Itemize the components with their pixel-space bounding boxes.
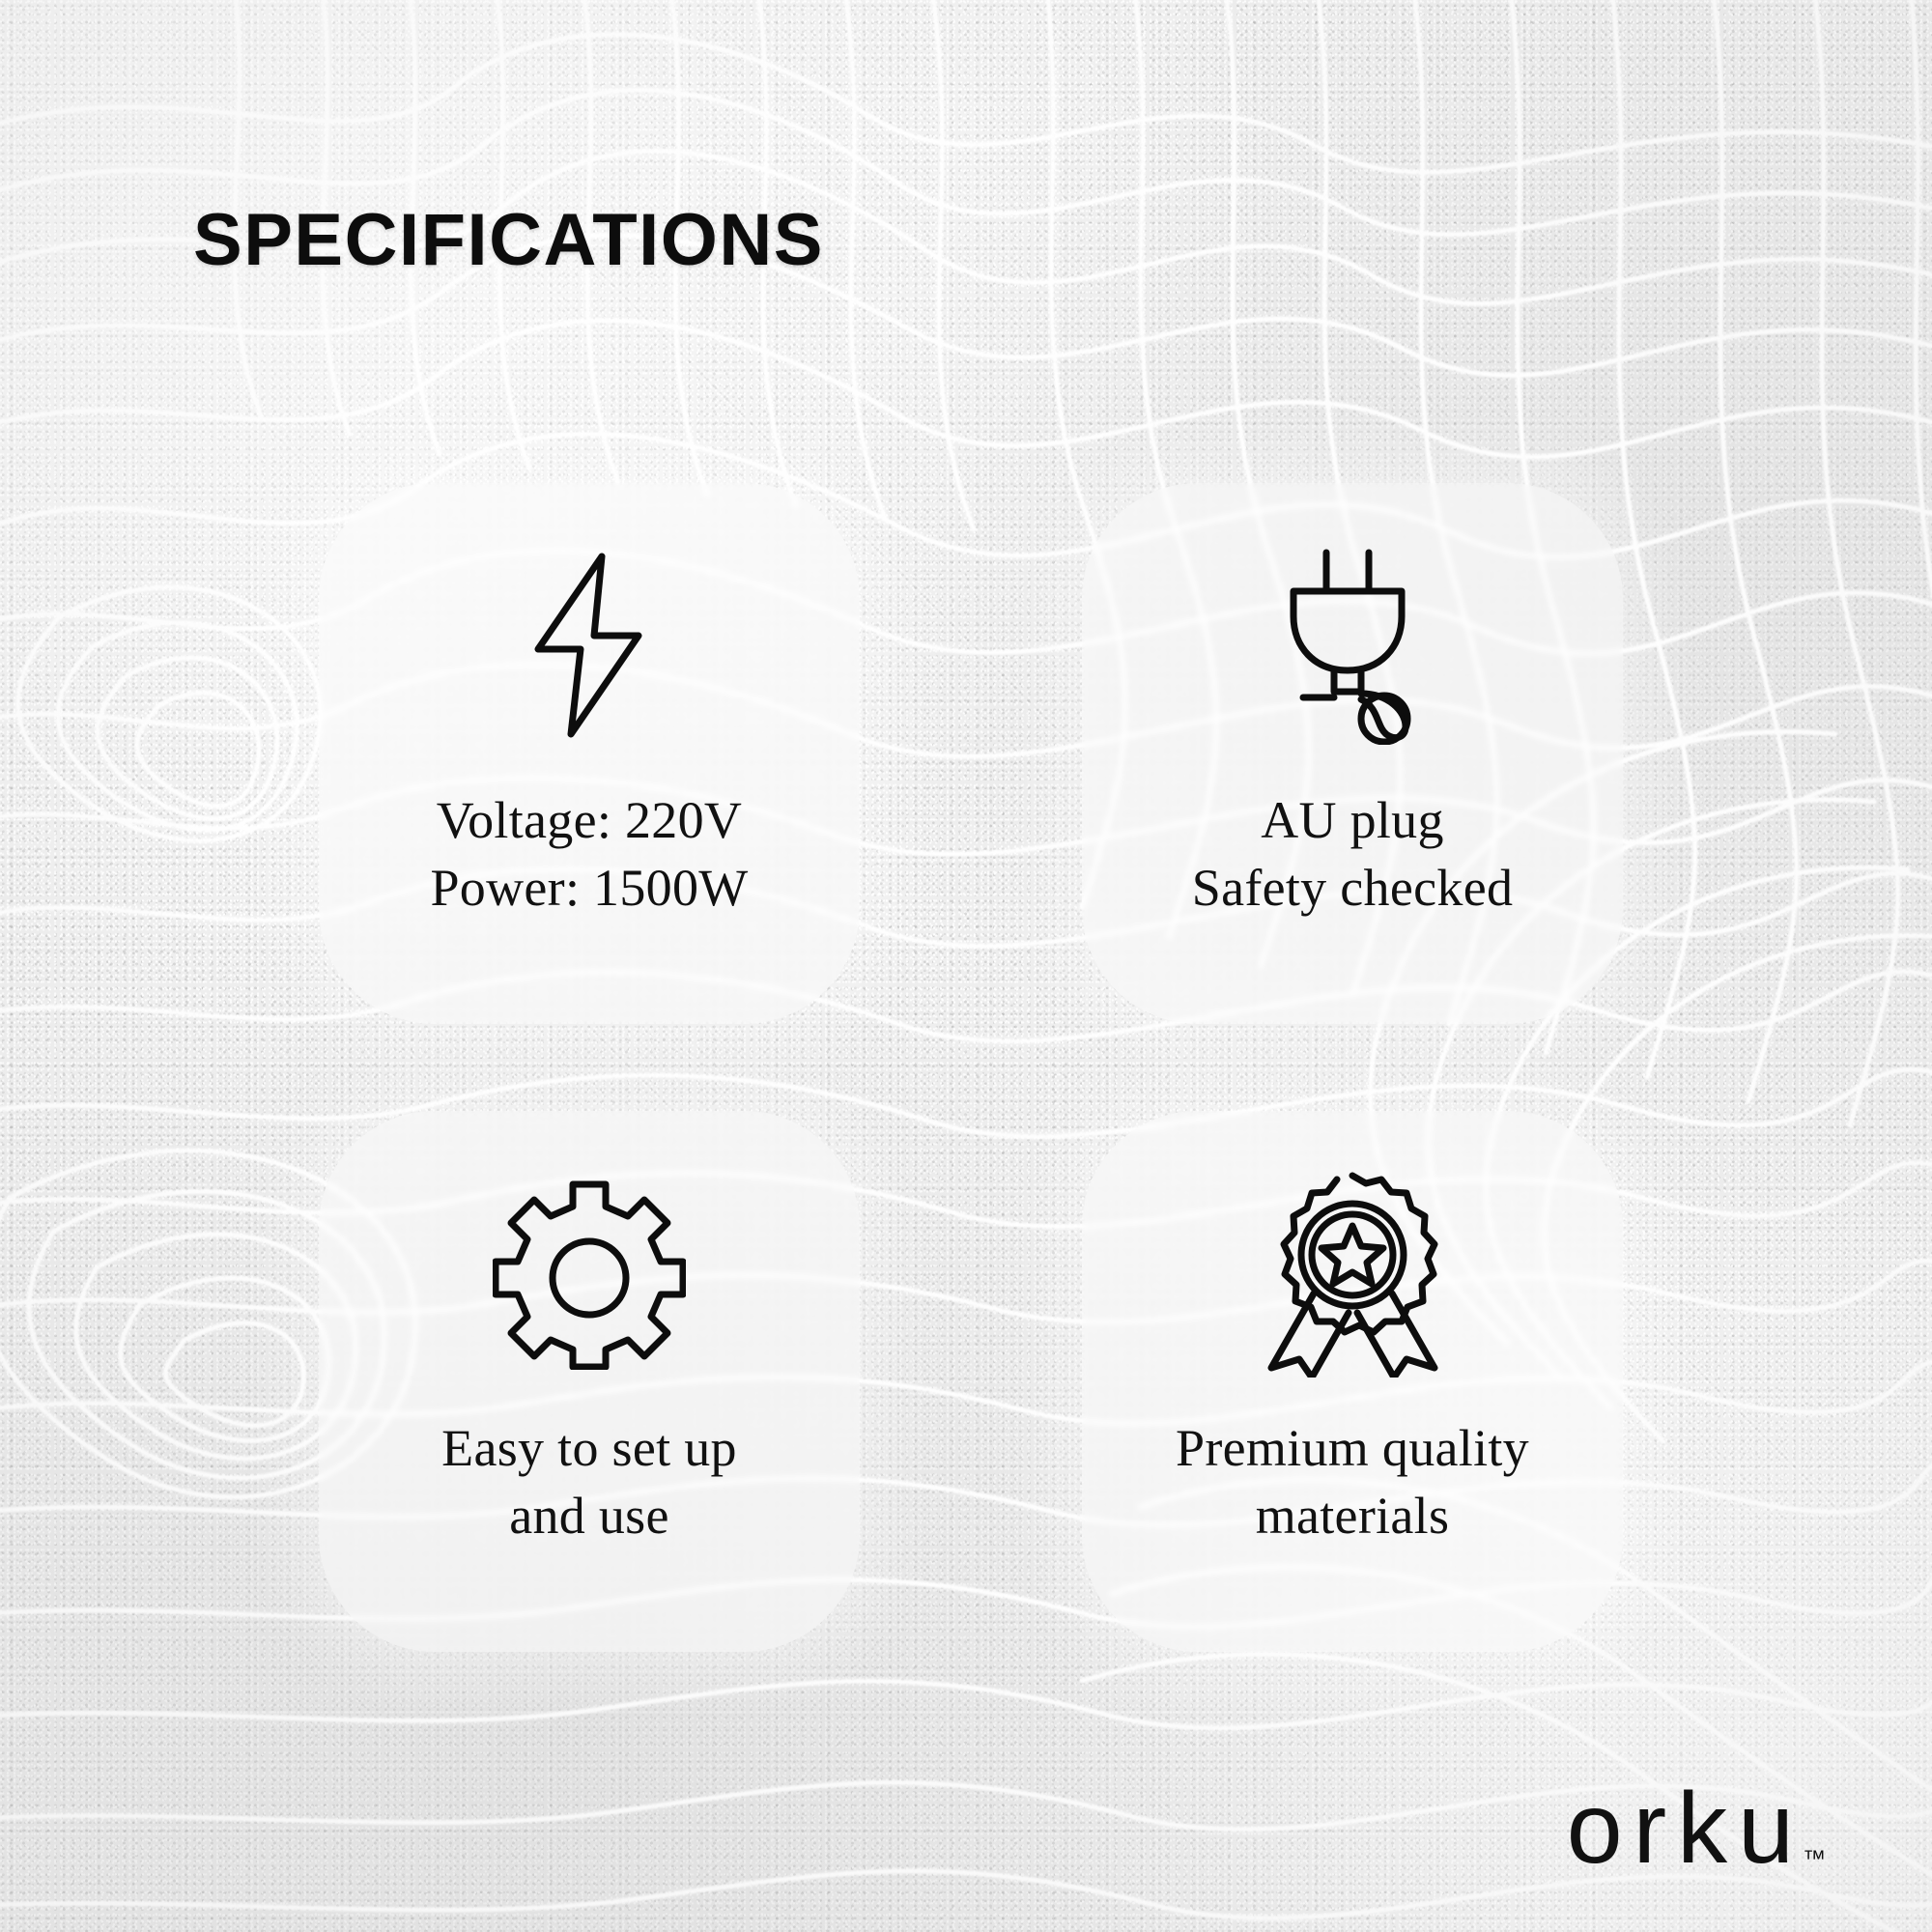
spec-card-label: Premium quality materials — [1176, 1414, 1529, 1549]
spec-card-au-plug: AU plug Safety checked — [1082, 483, 1623, 1024]
spec-card-easy-setup: Easy to set up and use — [319, 1111, 860, 1652]
spec-card-label: Voltage: 220V Power: 1500W — [430, 786, 748, 922]
specification-card-grid: Voltage: 220V Power: 1500W AU plug Safet… — [0, 0, 1932, 1932]
spec-card-voltage-power: Voltage: 220V Power: 1500W — [319, 483, 860, 1024]
brand-logo-wordmark: orku — [1567, 1778, 1804, 1879]
brand-logo: orku ™ — [1567, 1778, 1826, 1879]
spec-card-premium-quality: Premium quality materials — [1082, 1111, 1623, 1652]
trademark-icon: ™ — [1803, 1846, 1826, 1873]
spec-card-label: AU plug Safety checked — [1192, 786, 1514, 922]
gear-icon — [488, 1167, 691, 1379]
power-plug-icon — [1251, 539, 1454, 752]
spec-card-label: Easy to set up and use — [441, 1414, 737, 1549]
lightning-bolt-icon — [488, 539, 691, 752]
award-rosette-icon — [1251, 1167, 1454, 1379]
